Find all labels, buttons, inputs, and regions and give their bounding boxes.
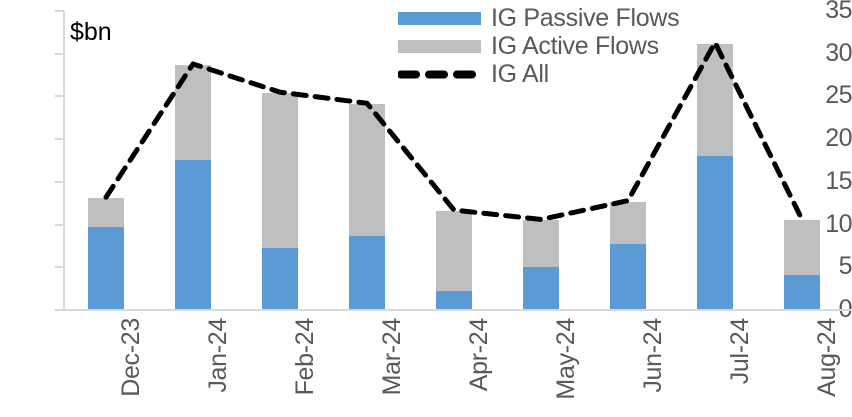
bar-group — [784, 12, 820, 311]
bar-segment-passive — [523, 267, 559, 311]
y-axis-tick — [55, 95, 64, 97]
bar-segment-active — [262, 93, 298, 248]
x-axis-label: May-24 — [552, 318, 581, 400]
x-axis-baseline — [63, 309, 852, 311]
y-axis-tick — [55, 181, 64, 183]
bar-segment-active — [610, 202, 646, 245]
bar-segment-passive — [175, 160, 211, 311]
y-axis-tick — [55, 10, 64, 12]
legend-item-ig-passive-flows: IG Passive Flows — [398, 4, 679, 32]
x-axis-label: Feb-24 — [291, 318, 320, 395]
bar-segment-passive — [697, 156, 733, 311]
legend-item-ig-all: IG All — [398, 60, 679, 88]
bar-segment-passive — [436, 291, 472, 312]
bar-group — [262, 12, 298, 311]
bar-segment-active — [784, 220, 820, 275]
bar-segment-passive — [610, 244, 646, 311]
x-axis-label: Jun-24 — [639, 318, 668, 393]
bar-segment-passive — [262, 248, 298, 311]
bar-group — [175, 12, 211, 311]
bar-segment-passive — [349, 236, 385, 311]
y-axis-tick — [55, 266, 64, 268]
bar-segment-passive — [784, 275, 820, 311]
y-axis-tick — [55, 224, 64, 226]
legend-item-ig-active-flows: IG Active Flows — [398, 32, 679, 60]
y-axis-tick — [55, 53, 64, 55]
bar-group — [88, 12, 124, 311]
x-axis-label: Mar-24 — [378, 318, 407, 395]
x-axis-label: Dec-23 — [117, 318, 146, 397]
bar-segment-active — [88, 198, 124, 227]
bar-segment-active — [349, 104, 385, 236]
bar-segment-active — [436, 211, 472, 290]
bar-segment-active — [697, 44, 733, 156]
bar-segment-active — [523, 220, 559, 266]
x-axis-label: Jan-24 — [204, 318, 233, 393]
bar-segment-passive — [88, 227, 124, 311]
x-axis-label: Aug-24 — [813, 318, 842, 397]
x-axis-label: Jul-24 — [726, 318, 755, 384]
legend-swatch-icon-passive — [398, 12, 481, 25]
bar-group — [349, 12, 385, 311]
bar-segment-active — [175, 65, 211, 160]
bar-group — [697, 12, 733, 311]
legend-dashed-line-icon — [398, 68, 481, 81]
legend-label-active: IG Active Flows — [491, 34, 659, 59]
chart-legend: IG Passive Flows IG Active Flows IG All — [398, 4, 679, 88]
chart-container: 35302520151050 $bn Dec-23Jan-24Feb-24Mar… — [0, 0, 852, 417]
legend-label-ig-all: IG All — [491, 62, 549, 87]
legend-swatch-icon-active — [398, 40, 481, 53]
y-axis-tick — [55, 138, 64, 140]
x-axis-label: Apr-24 — [465, 318, 494, 391]
legend-label-passive: IG Passive Flows — [491, 6, 679, 31]
